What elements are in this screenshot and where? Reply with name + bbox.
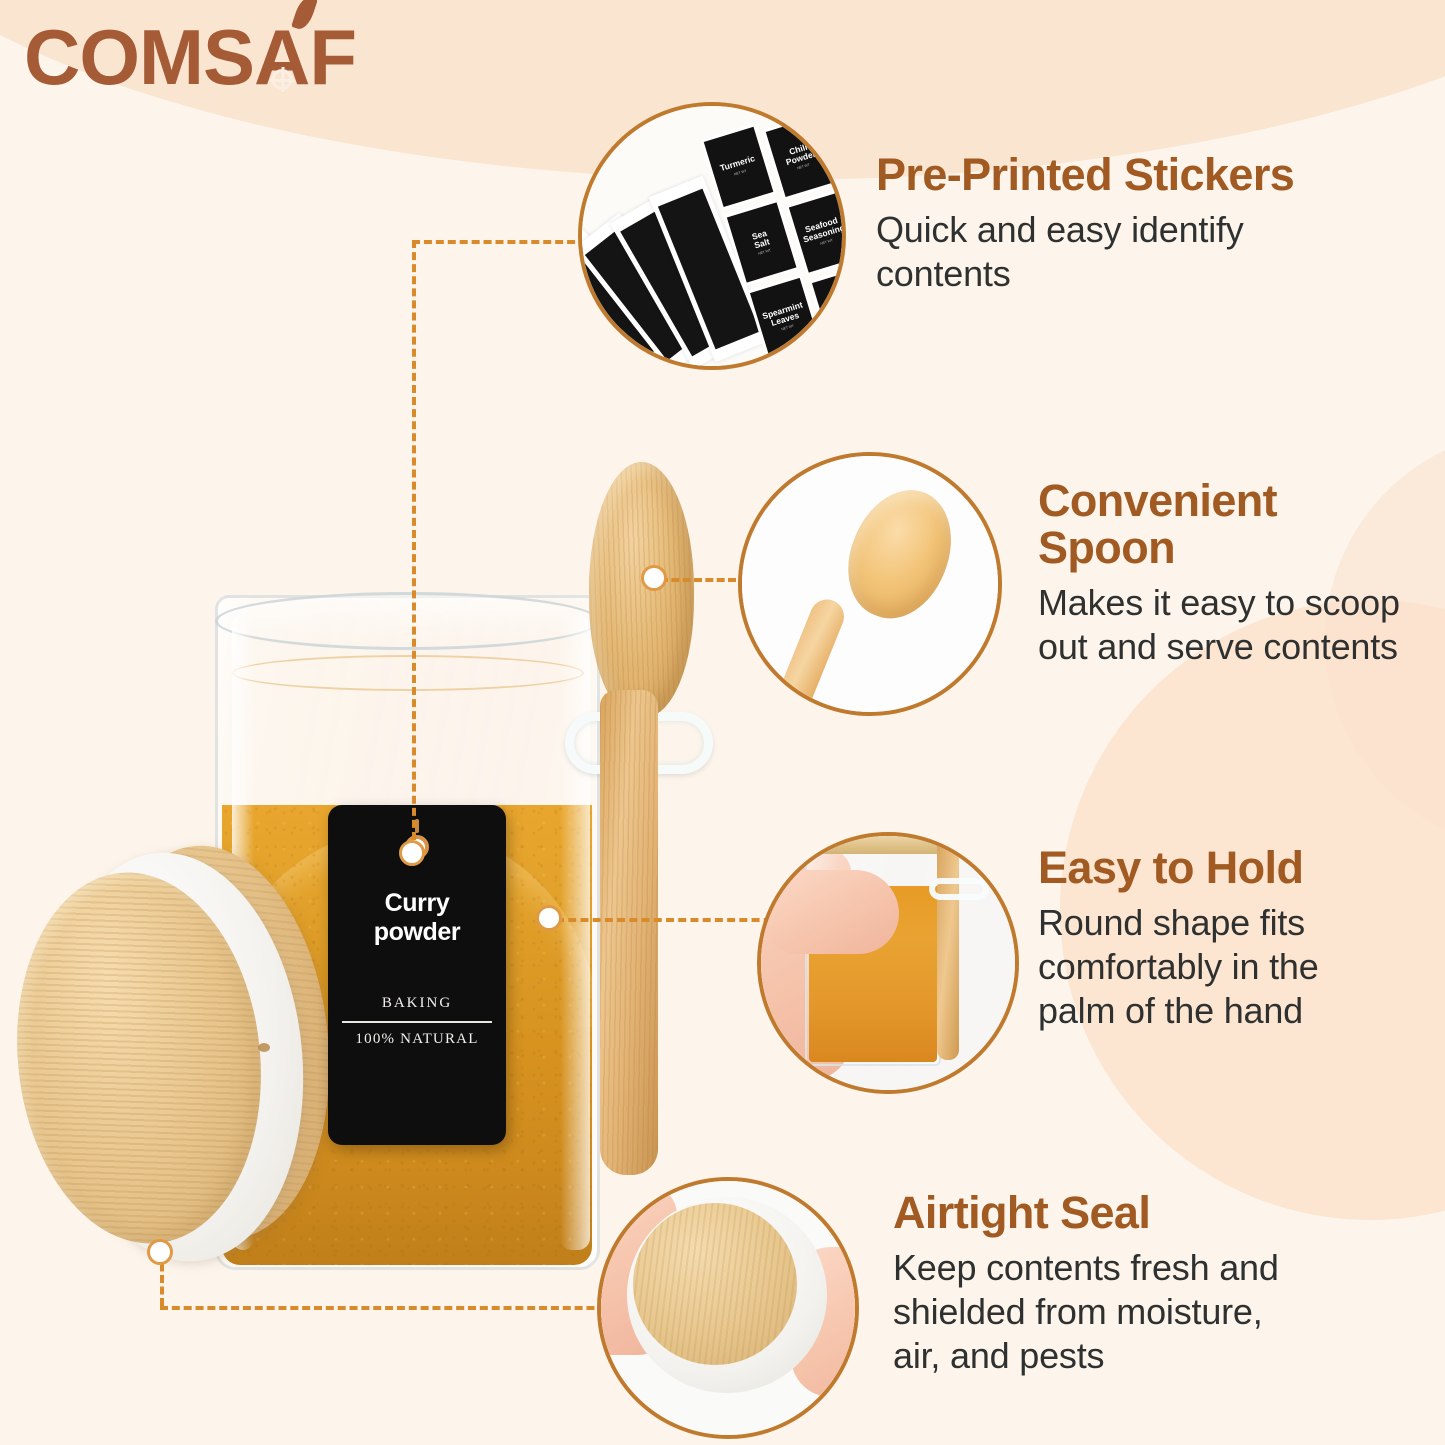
connector-dot-spoon: [641, 565, 667, 591]
sticker-sheet-icon: TurmericNET WT SeaSaltNET WT SpearmintLe…: [582, 106, 842, 366]
spoon-bowl: [589, 462, 694, 717]
sticker-name: ChiliPowder: [782, 141, 817, 167]
glass-loop: [929, 878, 989, 900]
lid-bamboo-face: [633, 1203, 797, 1365]
feature-easy-to-hold: Easy to Hold Round shape fits comfortabl…: [1038, 845, 1438, 1033]
side-spoon: [937, 832, 959, 1060]
connector-line-h: [412, 240, 587, 244]
brand-logo-mark: A: [254, 18, 309, 96]
connector-line-h: [556, 918, 784, 922]
tag-divider: [342, 1021, 492, 1023]
jar-bamboo-lid: [801, 832, 947, 854]
jar-highlight-right: [560, 615, 590, 1250]
feature-body: Makes it easy to scoop out and serve con…: [1038, 581, 1438, 669]
brand-logo: COMS A F: [24, 18, 356, 96]
connector-dot-seal: [147, 1239, 173, 1265]
brand-logo-text-f: F: [309, 18, 356, 96]
tag-subtitle: BAKING: [342, 995, 492, 1012]
jar-inner-rim: [232, 655, 584, 691]
callout-easy-to-hold: [757, 832, 1019, 1094]
feature-body: Keep contents fresh and shielded from mo…: [893, 1246, 1363, 1378]
connector-line-h: [160, 1306, 630, 1310]
sticker-name: SeaSalt: [751, 228, 771, 250]
callout-stickers: TurmericNET WT SeaSaltNET WT SpearmintLe…: [578, 102, 846, 370]
tag-title: Curry powder: [328, 889, 506, 948]
bamboo-lid-icon: [601, 1181, 855, 1435]
spoon-handle: [600, 690, 658, 1175]
feature-heading: Convenient Spoon: [1038, 478, 1438, 572]
jar-rim: [215, 592, 600, 650]
connector-line-v: [412, 240, 416, 840]
feature-heading: Pre-Printed Stickers: [876, 152, 1416, 199]
spoon-bowl: [831, 475, 969, 633]
brand-logo-text-coms: COMS: [24, 18, 254, 96]
connector-dot-stickers: [399, 840, 425, 866]
callout-spoon: [738, 452, 1002, 716]
feature-body: Quick and easy identify contents: [876, 208, 1416, 296]
tag-natural-text: 100% NATURAL: [338, 1031, 496, 1048]
lid-pinhole: [258, 1043, 270, 1052]
connector-dot-hold: [536, 905, 562, 931]
feature-heading: Airtight Seal: [893, 1190, 1363, 1237]
hand-thumb: [769, 870, 899, 954]
feature-stickers: Pre-Printed Stickers Quick and easy iden…: [876, 152, 1416, 296]
feature-spoon: Convenient Spoon Makes it easy to scoop …: [1038, 478, 1438, 668]
feature-airtight-seal: Airtight Seal Keep contents fresh and sh…: [893, 1190, 1363, 1378]
sticker-name: SpearmintLeaves: [761, 300, 806, 329]
feature-heading: Easy to Hold: [1038, 845, 1438, 892]
spoon-handle: [769, 594, 849, 716]
crosshair-icon: [271, 69, 292, 90]
hand-holding-jar-icon: [761, 836, 1015, 1090]
wooden-spoon-icon: [742, 456, 998, 712]
callout-airtight-seal: [597, 1177, 859, 1439]
feature-body: Round shape fits comfortably in the palm…: [1038, 901, 1438, 1033]
tag-title-line1: Curry: [328, 889, 506, 918]
tag-title-line2: powder: [328, 918, 506, 947]
sticker-name: SeafoodSeasoning: [799, 214, 845, 244]
